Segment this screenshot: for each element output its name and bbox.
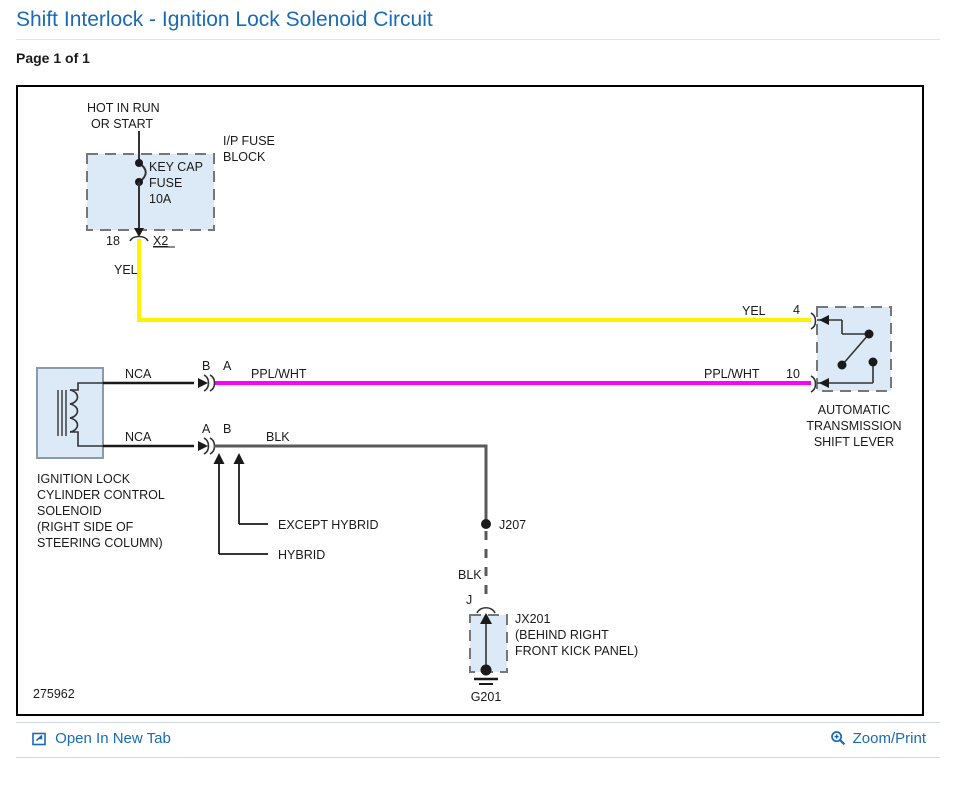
except-hybrid-arrowhead <box>234 453 245 464</box>
solenoid-pin-lower-b: B <box>223 422 231 436</box>
ppl-wht-label-left: PPL/WHT <box>251 367 307 381</box>
fuse-output-arrowhead <box>134 228 144 237</box>
key-cap-fuse-label-line1: KEY CAP <box>149 160 203 174</box>
open-in-new-tab-button[interactable]: Open In New Tab <box>32 730 171 750</box>
shift-lever-pin-number-ppl: 10 <box>786 367 800 381</box>
title-divider <box>16 39 940 40</box>
except-hybrid-label: EXCEPT HYBRID <box>278 518 379 532</box>
fuse-connector-id: X2 <box>153 234 168 248</box>
blk-label-top: BLK <box>266 430 290 444</box>
key-cap-fuse-label-line3: 10A <box>149 192 172 206</box>
hybrid-callouts-group: EXCEPT HYBRID HYBRID <box>214 453 379 562</box>
fuse-pin-number: 18 <box>106 234 120 248</box>
solenoid-label-line5: STEERING COLUMN) <box>37 536 163 550</box>
wiring-diagram-canvas: HOT IN RUN OR START I/P FUSE BLOCK KEY C… <box>16 85 924 716</box>
hybrid-arrowhead <box>214 453 225 464</box>
auto-trans-label-line3: SHIFT LEVER <box>814 435 894 449</box>
nca-lower-arrowhead <box>198 441 208 451</box>
nca-upper-connector-arc-2 <box>210 375 215 391</box>
hot-in-run-label-line1: HOT IN RUN <box>87 101 160 115</box>
jx201-note-line2: FRONT KICK PANEL) <box>515 644 638 658</box>
yel-label-left: YEL <box>114 263 138 277</box>
yel-wire-path <box>139 239 811 320</box>
splice-dot-j207 <box>481 519 491 529</box>
key-cap-fuse-label-line2: FUSE <box>149 176 182 190</box>
auto-trans-label-line1: AUTOMATIC <box>818 403 890 417</box>
blk-label-lower: BLK <box>458 568 482 582</box>
switch-contact-dot-left <box>838 361 847 370</box>
ground-pin-label-j: J <box>466 593 472 607</box>
solenoid-label-line4: (RIGHT SIDE OF <box>37 520 134 534</box>
ip-fuse-block-label-line2: BLOCK <box>223 150 266 164</box>
diagram-footer-toolbar: Open In New Tab Zoom/Print <box>16 722 940 758</box>
nca-leads-group: NCA B A NCA A B <box>103 359 232 454</box>
ppl-wht-wire-group: PPL/WHT PPL/WHT <box>214 367 811 383</box>
shift-lever-pin-number-yel: 4 <box>793 303 800 317</box>
solenoid-label-line2: CYLINDER CONTROL <box>37 488 165 502</box>
yel-label-right: YEL <box>742 304 766 318</box>
ip-fuse-block-group: HOT IN RUN OR START I/P FUSE BLOCK KEY C… <box>87 101 275 248</box>
ground-node-dot <box>481 665 492 676</box>
solenoid-pin-upper-a: A <box>223 359 232 373</box>
auto-trans-label-line2: TRANSMISSION <box>806 419 901 433</box>
nca-upper-arrowhead <box>198 378 208 388</box>
hybrid-label: HYBRID <box>278 548 325 562</box>
diagram-page: Shift Interlock - Ignition Lock Solenoid… <box>0 0 955 791</box>
solenoid-pin-lower-a: A <box>202 422 211 436</box>
splice-label-j207: J207 <box>499 518 526 532</box>
diagram-id-number: 275962 <box>33 687 75 701</box>
zoom-print-button[interactable]: Zoom/Print <box>830 730 926 750</box>
yellow-wire-group: YEL YEL <box>114 239 811 320</box>
zoom-print-label: Zoom/Print <box>853 730 926 747</box>
shift-lever-connector-arc-pin4 <box>811 313 816 329</box>
hot-in-run-label-line2: OR START <box>91 117 153 131</box>
solenoid-label-line3: SOLENOID <box>37 504 102 518</box>
nca-upper-label: NCA <box>125 367 152 381</box>
ppl-wht-label-right: PPL/WHT <box>704 367 760 381</box>
wiring-diagram-svg: HOT IN RUN OR START I/P FUSE BLOCK KEY C… <box>18 87 922 714</box>
ip-fuse-block-label-line1: I/P FUSE <box>223 134 275 148</box>
page-title: Shift Interlock - Ignition Lock Solenoid… <box>16 8 433 32</box>
ignition-lock-solenoid-group: IGNITION LOCK CYLINDER CONTROL SOLENOID … <box>37 368 165 550</box>
external-link-icon <box>32 731 47 750</box>
jx201-connector-arc <box>477 608 495 613</box>
blk-wire-upper-path <box>214 446 486 521</box>
jx201-note-line1: (BEHIND RIGHT <box>515 628 609 642</box>
nca-lower-connector-arc-2 <box>210 438 215 454</box>
nca-lower-label: NCA <box>125 430 152 444</box>
solenoid-label-line1: IGNITION LOCK <box>37 472 131 486</box>
solenoid-pin-upper-b: B <box>202 359 210 373</box>
shift-lever-connector-arc-pin10 <box>811 376 816 392</box>
jx201-label: JX201 <box>515 612 550 626</box>
switch-pivot-dot <box>865 330 874 339</box>
black-ground-wire-group: BLK J207 BLK J JX201 (BEHIND RIGHT FRONT… <box>214 430 638 704</box>
switch-contact-dot-right <box>869 358 878 367</box>
open-in-new-tab-label: Open In New Tab <box>55 730 171 747</box>
solenoid-body <box>37 368 103 458</box>
page-count-label: Page 1 of 1 <box>16 50 90 66</box>
magnifier-plus-icon <box>830 730 846 750</box>
automatic-transmission-shift-lever-group: 4 10 AUTOMATIC TRANSMISSION SHIFT LEVER <box>786 303 902 449</box>
fuse-terminal-dot-top <box>135 159 143 167</box>
ground-label-g201: G201 <box>471 690 502 704</box>
